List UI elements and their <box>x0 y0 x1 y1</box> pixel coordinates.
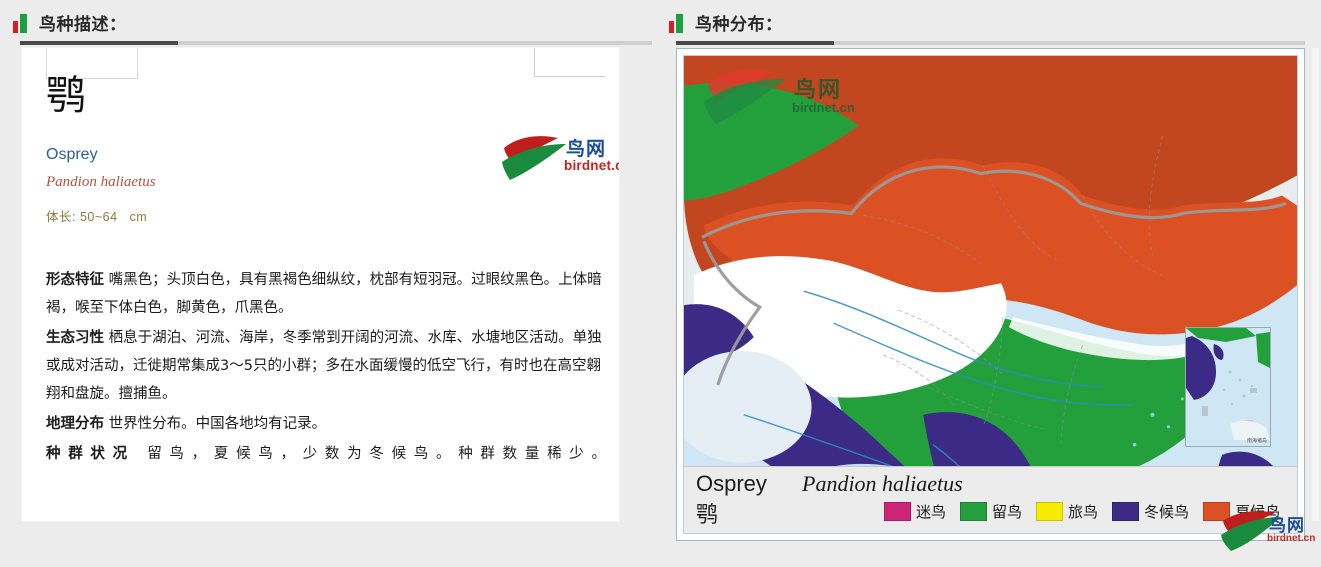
bar-chart-icon <box>668 13 686 33</box>
legend-item-vagrant: 迷鸟 <box>884 501 946 522</box>
legend-swatch-winter <box>1112 502 1139 521</box>
map-caption-scientific: Pandion haliaetus <box>802 471 963 497</box>
habits-paragraph: 生态习性 栖息于湖泊、河流、海岸，冬季常到开阔的河流、水库、水塘地区活动。单独或… <box>46 324 606 408</box>
legend-swatch-vagrant <box>884 502 911 521</box>
population-label: 种群状况 <box>46 446 135 462</box>
map-caption-english: Osprey <box>696 471 767 497</box>
population-text: 留鸟，夏候鸟，少数为冬候鸟。种群数量稀少。 <box>147 446 606 462</box>
corner-mark <box>534 48 605 77</box>
geo-distribution-text: 世界性分布。中国各地均有记录。 <box>109 416 327 432</box>
map-watermark-logo: 鸟网 birdnet.cn <box>702 64 882 134</box>
size-label: 体长: <box>46 210 76 224</box>
birdnet-logo: 鸟网 birdnet.cn <box>500 132 619 184</box>
description-header-underline <box>20 41 652 45</box>
section-title-description: 鸟种描述： <box>39 10 127 35</box>
population-paragraph: 种群状况 留鸟，夏候鸟，少数为冬候鸟。种群数量稀少。 <box>46 440 606 468</box>
corner-watermark-logo: 鸟网 birdnet.cn <box>1221 503 1317 565</box>
legend-swatch-passage <box>1036 502 1063 521</box>
legend-label-passage: 旅鸟 <box>1068 501 1098 522</box>
morphology-label: 形态特征 <box>46 272 104 288</box>
morphology-text: 嘴黑色；头顶白色，具有黑褐色细纵纹，枕部有短羽冠。过眼纹黑色。上体暗褐，喉至下体… <box>46 272 602 316</box>
map-footer: Osprey 鹗 Pandion haliaetus 迷鸟 留鸟 旅鸟 <box>684 466 1297 533</box>
corner-logo-url: birdnet.cn <box>1267 533 1315 544</box>
distribution-map[interactable]: 鸟网 birdnet.cn <box>683 55 1298 534</box>
logo-url-text: birdnet.cn <box>564 158 619 173</box>
inset-map-label: 南海诸岛 <box>1247 437 1267 444</box>
section-header-distribution: 鸟种分布： <box>668 10 783 35</box>
map-caption-chinese: 鹗 <box>696 497 718 529</box>
section-header-description: 鸟种描述： <box>12 10 127 35</box>
distribution-map-panel: 鸟网 birdnet.cn <box>676 48 1305 541</box>
bar-chart-icon <box>12 13 30 33</box>
birdnet-swoosh-icon <box>702 64 790 126</box>
logo-chinese-text: 鸟网 <box>566 134 606 161</box>
legend-item-winter: 冬候鸟 <box>1112 501 1189 522</box>
legend-swatch-resident <box>960 502 987 521</box>
species-description-text: 形态特征 嘴黑色；头顶白色，具有黑褐色细纵纹，枕部有短羽冠。过眼纹黑色。上体暗褐… <box>46 266 606 470</box>
section-title-distribution: 鸟种分布： <box>695 10 783 35</box>
legend-label-winter: 冬候鸟 <box>1144 501 1189 522</box>
south-china-sea-inset-map: 南海诸岛 <box>1185 327 1271 447</box>
page-scrollbar[interactable] <box>1310 48 1319 521</box>
species-english-name[interactable]: Osprey <box>46 146 98 164</box>
geo-distribution-label: 地理分布 <box>46 416 104 432</box>
species-size: 体长: 50~64 cm <box>46 206 147 225</box>
legend-label-resident: 留鸟 <box>992 501 1022 522</box>
morphology-paragraph: 形态特征 嘴黑色；头顶白色，具有黑褐色细纵纹，枕部有短羽冠。过眼纹黑色。上体暗褐… <box>46 266 606 322</box>
legend-item-resident: 留鸟 <box>960 501 1022 522</box>
legend-label-vagrant: 迷鸟 <box>916 501 946 522</box>
size-value: 50~64 <box>80 210 118 224</box>
distribution-header-underline <box>676 41 1305 45</box>
species-chinese-name: 鹗 <box>46 76 86 116</box>
legend-item-passage: 旅鸟 <box>1036 501 1098 522</box>
map-watermark-url: birdnet.cn <box>792 100 855 115</box>
size-unit: cm <box>130 210 148 224</box>
inset-graphic <box>1186 328 1270 446</box>
geo-distribution-paragraph: 地理分布 世界性分布。中国各地均有记录。 <box>46 410 606 438</box>
habits-text: 栖息于湖泊、河流、海岸，冬季常到开阔的河流、水库、水塘地区活动。单独或成对活动，… <box>46 330 602 402</box>
page-root: 鸟种描述： 鸟种分布： 鹗 Osprey Pandion haliaetus 体… <box>0 0 1321 567</box>
species-scientific-name: Pandion haliaetus <box>46 174 156 191</box>
species-description-panel: 鹗 Osprey Pandion haliaetus 体长: 50~64 cm … <box>22 48 619 521</box>
birdnet-swoosh-icon <box>500 132 570 182</box>
habits-label: 生态习性 <box>46 330 104 346</box>
